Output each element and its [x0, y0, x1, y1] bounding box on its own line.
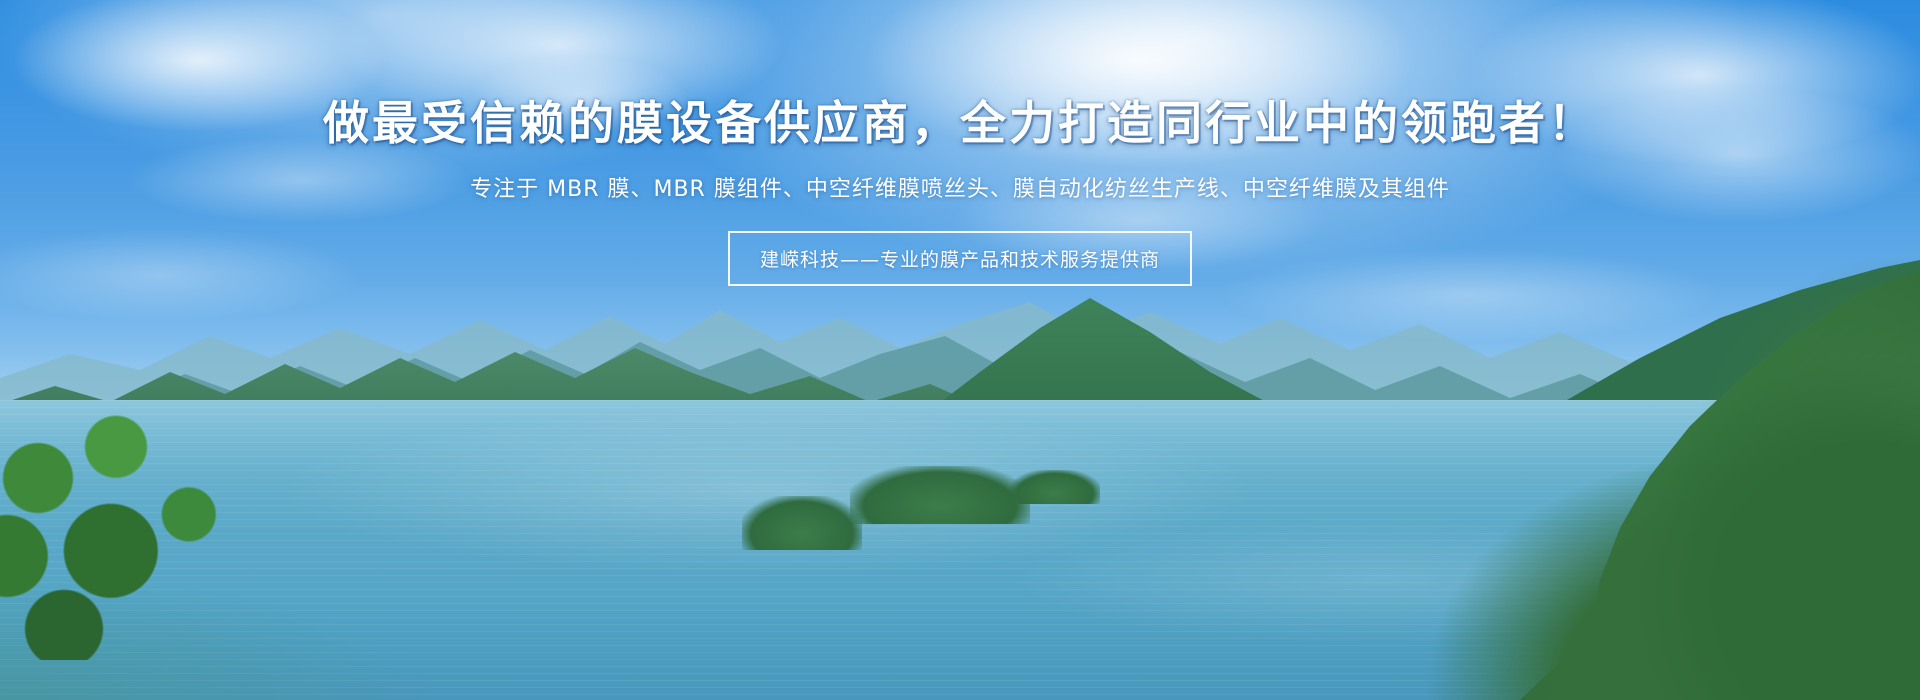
banner-tagline-wrapper: 建嵘科技——专业的膜产品和技术服务提供商	[0, 231, 1920, 286]
banner-tagline-box: 建嵘科技——专业的膜产品和技术服务提供商	[728, 231, 1192, 286]
islet	[742, 496, 862, 550]
islet	[1010, 470, 1100, 504]
banner-content: 做最受信赖的膜设备供应商，全力打造同行业中的领跑者！ 专注于 MBR 膜、MBR…	[0, 0, 1920, 286]
banner-subheadline: 专注于 MBR 膜、MBR 膜组件、中空纤维膜喷丝头、膜自动化纺丝生产线、中空纤…	[0, 175, 1920, 206]
left-foreground-tree	[0, 400, 220, 660]
islet	[850, 466, 1030, 524]
hero-banner: 做最受信赖的膜设备供应商，全力打造同行业中的领跑者！ 专注于 MBR 膜、MBR…	[0, 0, 1920, 700]
right-foreground-foliage	[1300, 220, 1920, 700]
banner-headline: 做最受信赖的膜设备供应商，全力打造同行业中的领跑者！	[0, 98, 1920, 149]
